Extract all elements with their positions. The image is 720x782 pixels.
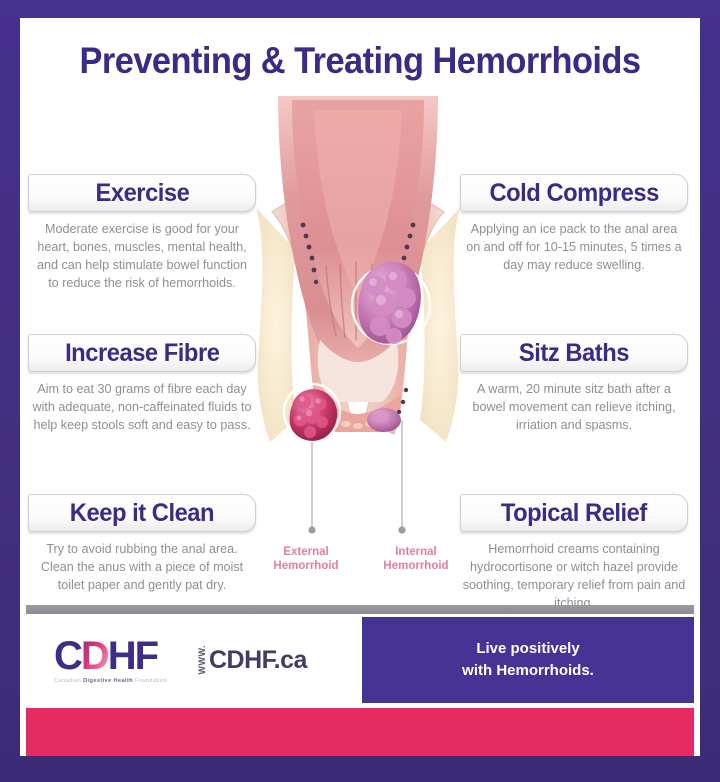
tip-heading-box-topical-relief: Topical Relief <box>460 494 688 532</box>
footer-slogan: Live positively with Hemorrhoids. <box>462 638 594 682</box>
poster-card: Preventing & Treating Hemorrhoids Exerci… <box>20 18 700 756</box>
tip-heading-sitz-baths: Sitz Baths <box>519 341 629 366</box>
figure-labels: External Hemorrhoid Internal Hemorrhoid <box>256 545 466 574</box>
cdhf-tagline-pre: Canadian <box>54 678 83 684</box>
tip-heading-box-increase-fibre: Increase Fibre <box>28 334 256 372</box>
bottom-accent-bar <box>26 708 694 756</box>
tip-heading-box-cold-compress: Cold Compress <box>460 174 688 212</box>
tip-text-keep-it-clean: Try to avoid rubbing the anal area. Clea… <box>30 541 254 595</box>
tip-heading-cold-compress: Cold Compress <box>489 181 658 206</box>
cdhf-logo[interactable]: CDHF Canadian Digestive Health Foundatio… <box>54 636 307 684</box>
cdhf-tagline-bold: Digestive Health <box>83 678 133 684</box>
footer-slogan-panel: Live positively with Hemorrhoids. <box>362 617 694 703</box>
cdhf-logo-mark: CDHF Canadian Digestive Health Foundatio… <box>54 636 167 684</box>
label-internal-line2: Hemorrhoid <box>366 559 466 573</box>
footer: CDHF Canadian Digestive Health Foundatio… <box>20 605 700 756</box>
external-hemorrhoid <box>284 384 340 441</box>
footer-divider <box>26 605 694 614</box>
tip-heading-increase-fibre: Increase Fibre <box>65 341 219 366</box>
website-url: CDHF.ca <box>209 646 307 675</box>
label-external-line1: External <box>256 545 356 559</box>
label-external-line2: Hemorrhoid <box>256 559 356 573</box>
tip-heading-keep-it-clean: Keep it Clean <box>70 501 214 526</box>
slogan-line-2: with Hemorrhoids. <box>462 660 594 682</box>
tip-card-keep-it-clean: Keep it Clean Try to avoid rubbing the a… <box>28 494 256 595</box>
footer-brand-panel: CDHF Canadian Digestive Health Foundatio… <box>26 617 362 703</box>
footer-panels: CDHF Canadian Digestive Health Foundatio… <box>26 617 694 703</box>
slogan-line-1: Live positively <box>462 638 594 660</box>
tip-heading-exercise: Exercise <box>95 181 189 206</box>
tip-text-increase-fibre: Aim to eat 30 grams of fibre each day wi… <box>30 381 254 435</box>
tip-card-exercise: Exercise Moderate exercise is good for y… <box>28 174 256 293</box>
tip-card-increase-fibre: Increase Fibre Aim to eat 30 grams of fi… <box>28 334 256 435</box>
content-area: Exercise Moderate exercise is good for y… <box>20 90 700 756</box>
tip-text-cold-compress: Applying an ice pack to the anal area on… <box>462 221 686 275</box>
anatomy-illustration <box>256 90 460 560</box>
logo-letters-hf: HF <box>108 636 157 676</box>
tip-card-topical-relief: Topical Relief Hemorrhoid creams contain… <box>460 494 688 613</box>
cdhf-website-link[interactable]: WWW. CDHF.ca <box>197 645 307 675</box>
tip-text-exercise: Moderate exercise is good for your heart… <box>30 221 254 293</box>
tip-card-cold-compress: Cold Compress Applying an ice pack to th… <box>460 174 688 275</box>
tip-card-sitz-baths: Sitz Baths A warm, 20 minute sitz bath a… <box>460 334 688 435</box>
internal-hemorrhoid-lobe <box>367 408 401 432</box>
tip-heading-box-sitz-baths: Sitz Baths <box>460 334 688 372</box>
label-internal-hemorrhoid: Internal Hemorrhoid <box>366 545 466 574</box>
tip-heading-box-keep-it-clean: Keep it Clean <box>28 494 256 532</box>
infographic-poster: Preventing & Treating Hemorrhoids Exerci… <box>0 0 720 782</box>
cdhf-wordmark: CDHF <box>54 636 167 676</box>
tip-heading-topical-relief: Topical Relief <box>501 501 647 526</box>
tip-text-sitz-baths: A warm, 20 minute sitz bath after a bowe… <box>462 381 686 435</box>
page-title: Preventing & Treating Hemorrhoids <box>44 40 676 82</box>
www-prefix: WWW. <box>197 645 207 675</box>
cdhf-tagline: Canadian Digestive Health Foundation <box>54 678 167 684</box>
logo-letter-c: C <box>54 636 81 676</box>
logo-letter-d: D <box>81 636 108 676</box>
label-external-hemorrhoid: External Hemorrhoid <box>256 545 356 574</box>
cdhf-tagline-post: Foundation <box>133 678 167 684</box>
tip-heading-box-exercise: Exercise <box>28 174 256 212</box>
label-internal-line1: Internal <box>366 545 466 559</box>
tip-text-topical-relief: Hemorrhoid creams containing hydrocortis… <box>462 541 686 613</box>
